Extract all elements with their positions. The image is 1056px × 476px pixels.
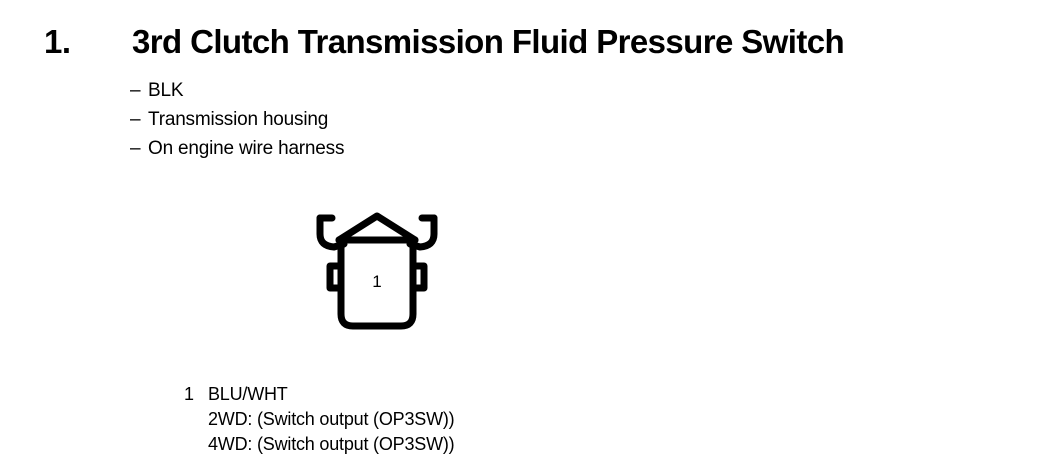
pin-function-2wd: 2WD: (Switch output (OP3SW)) (208, 407, 804, 432)
wiring-diagram-page: 1. 3rd Clutch Transmission Fluid Pressur… (0, 0, 1056, 476)
list-item: 1 BLU/WHT (184, 382, 804, 407)
connector-outline-icon (306, 204, 448, 336)
list-item: –Transmission housing (130, 105, 670, 134)
list-item-label: BLK (148, 80, 183, 101)
pin-legend: 1 BLU/WHT 2WD: (Switch output (OP3SW)) 4… (184, 382, 804, 457)
dash-bullet: – (130, 134, 148, 163)
pin-function-4wd: 4WD: (Switch output (OP3SW)) (208, 432, 804, 457)
connector-diagram: 1 (306, 204, 448, 336)
list-item: –On engine wire harness (130, 134, 670, 163)
list-item-label: Transmission housing (148, 109, 328, 130)
connector-attribute-list: –BLK –Transmission housing –On engine wi… (130, 76, 670, 163)
pin-number: 1 (184, 382, 204, 407)
dash-bullet: – (130, 105, 148, 134)
section-number: 1. (44, 22, 71, 62)
list-item-label: On engine wire harness (148, 138, 344, 159)
dash-bullet: – (130, 76, 148, 105)
list-item: –BLK (130, 76, 670, 105)
section-heading: 1. 3rd Clutch Transmission Fluid Pressur… (0, 22, 1056, 66)
page-title: 3rd Clutch Transmission Fluid Pressure S… (132, 22, 844, 62)
pin-wire-color: BLU/WHT (208, 382, 288, 407)
